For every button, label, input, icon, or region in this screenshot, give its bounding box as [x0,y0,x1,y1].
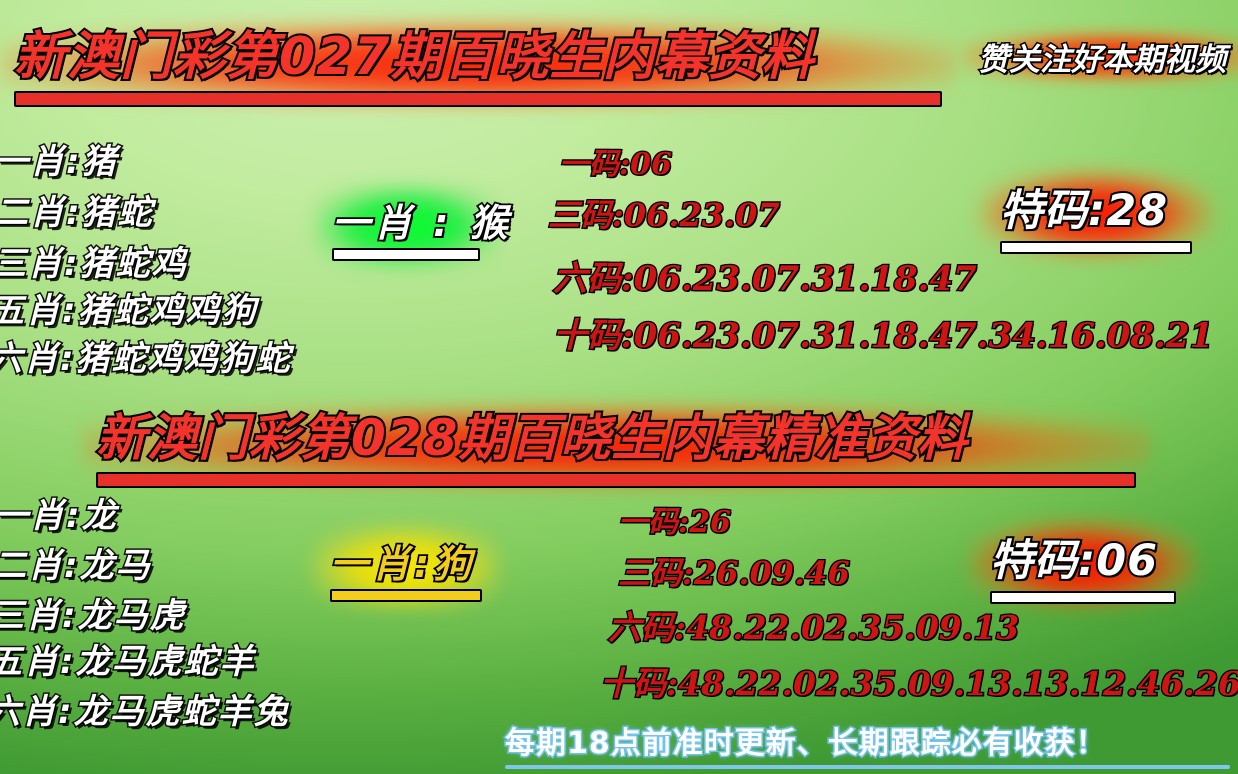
code-label-028-1: 一码: [618,505,689,540]
code-value-027-1: 06 [630,147,672,182]
code-label-028-10: 十码: [600,664,678,703]
zodiac-row-028-6: 六肖:龙马虎蛇羊兔 [0,684,290,733]
pick-text-028: 一肖:狗 [330,533,482,588]
special-code-box-027: 特码:28 [1000,176,1192,254]
poster-canvas: 新澳门彩第027期百晓生内幕资料 赞关注好本期视频 一肖:猪 二肖:猪蛇 三肖:… [0,0,1238,774]
zodiac-row-027-5: 五肖:猪蛇鸡鸡狗 [0,283,258,332]
code-row-028-10: 十码:48.22.02.35.09.13.13.12.46.26.03 [600,657,1238,705]
code-row-027-6: 六码:06.23.07.31.18.47 [553,251,977,300]
code-label-027-6: 六码: [553,259,634,299]
promo-banner: 赞关注好本期视频 [978,34,1226,79]
code-value-027-3: 06.23.07 [624,196,780,234]
code-row-027-3: 三码:06.23.07 [548,190,780,236]
code-value-028-10: 48.22.02.35.09.13.13.12.46.26.03 [678,664,1238,703]
pick-box-027: 一肖 : 猴 [332,192,480,261]
pick-box-028: 一肖:狗 [330,533,482,602]
footer-underline [505,765,1230,769]
code-label-027-1: 一码: [559,147,630,182]
zodiac-row-028-2: 二肖:龙马 [0,538,152,587]
section-title-banner-028: 新澳门彩第028期百晓生内幕精准资料 [96,398,1136,488]
pick-text-027: 一肖 : 猴 [332,192,480,247]
promo-text: 赞关注好本期视频 [978,42,1226,78]
footer-text: 每期18点前准时更新、长期跟踪必有收获！ [505,718,1230,762]
code-label-028-6: 六码: [608,608,686,647]
code-value-028-1: 26 [689,505,731,540]
zodiac-row-028-5: 五肖:龙马虎蛇羊 [0,634,256,683]
code-value-028-3: 26.09.46 [694,554,850,592]
special-code-underline-028 [990,591,1176,604]
section-title-text-028: 新澳门彩第028期百晓生内幕精准资料 [96,398,1136,470]
zodiac-row-027-1: 一肖:猪 [0,134,118,183]
special-code-box-028: 特码:06 [990,526,1176,604]
code-row-028-3: 三码:26.09.46 [618,548,850,594]
zodiac-row-027-3: 三肖:猪蛇鸡 [0,236,188,285]
code-label-028-3: 三码: [618,554,694,592]
zodiac-row-028-3: 三肖:龙马虎 [0,588,186,637]
code-row-028-1: 一码:26 [618,497,731,541]
zodiac-row-028-1: 一肖:龙 [0,488,118,537]
special-code-text-027: 特码:28 [1000,176,1192,238]
section-title-text-027: 新澳门彩第027期百晓生内幕资料 [14,14,942,89]
code-value-027-6: 06.23.07.31.18.47 [634,259,977,299]
code-value-027-10: 06.23.07.31.18.47.34.16.08.21 [634,316,1214,356]
zodiac-row-027-2: 二肖:猪蛇 [0,185,154,234]
code-row-027-1: 一码:06 [559,139,672,183]
zodiac-row-027-6: 六肖:猪蛇鸡鸡狗蛇 [0,331,292,380]
pick-underline-028 [330,589,482,602]
code-row-027-10: 十码:06.23.07.31.18.47.34.16.08.21 [553,308,1213,357]
footer-banner: 每期18点前准时更新、长期跟踪必有收获！ [505,718,1230,769]
pick-underline-027 [332,248,480,261]
code-label-027-3: 三码: [548,196,624,234]
section-title-banner-027: 新澳门彩第027期百晓生内幕资料 [14,14,942,107]
code-value-028-6: 48.22.02.35.09.13 [686,608,1019,647]
special-code-text-028: 特码:06 [990,526,1176,588]
special-code-underline-027 [1000,241,1192,254]
title-underline-027 [14,91,942,107]
code-row-028-6: 六码:48.22.02.35.09.13 [608,601,1019,649]
code-label-027-10: 十码: [553,316,634,356]
title-underline-028 [96,472,1136,488]
